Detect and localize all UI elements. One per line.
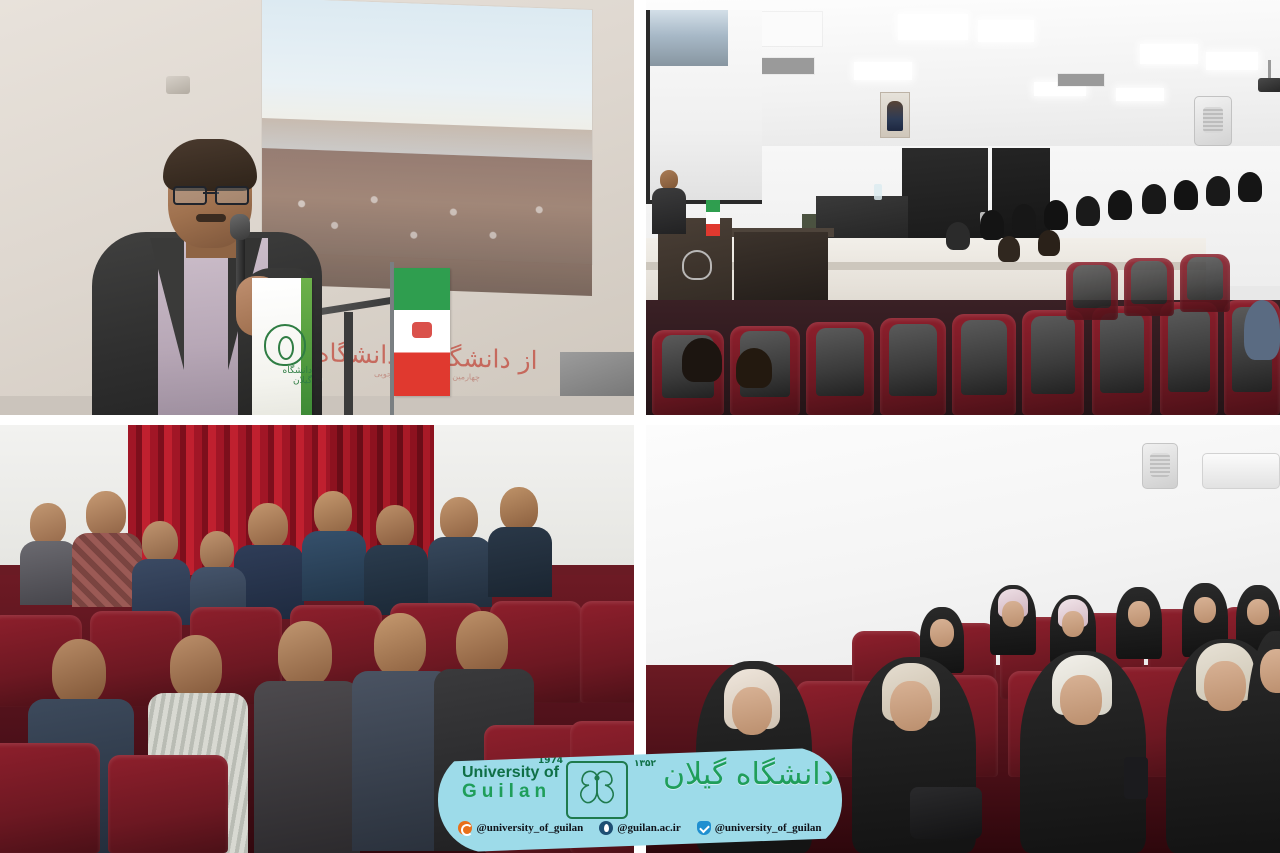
wall-portrait bbox=[880, 92, 910, 138]
university-name-fa: دانشگاه گیلان bbox=[634, 757, 834, 792]
photo-collage: از دانشگاه تا دانشگاه چهارمین همایش ملی … bbox=[0, 0, 1280, 853]
projection-screen: از دانشگاه تا دانشگاه چهارمین همایش ملی … bbox=[262, 0, 592, 264]
theater-seat bbox=[0, 743, 100, 853]
audience-member bbox=[736, 348, 772, 388]
social-link-eitaa[interactable]: @university_of_guilan bbox=[458, 821, 583, 835]
speaker-lapel-left bbox=[150, 238, 184, 370]
handbag bbox=[910, 787, 982, 839]
soroush-handle: @university_of_guilan bbox=[715, 822, 822, 834]
theater-seat bbox=[108, 755, 228, 853]
audience-member bbox=[998, 236, 1020, 262]
air-conditioner bbox=[1202, 453, 1280, 489]
ceiling-projector bbox=[1258, 78, 1280, 92]
theater-seat bbox=[806, 322, 874, 415]
projector-rod bbox=[1268, 60, 1271, 80]
university-flag: دانشگاه گیلان bbox=[252, 278, 312, 415]
audience-member bbox=[1012, 204, 1036, 234]
audience-member bbox=[1174, 180, 1198, 210]
water-bottle bbox=[874, 184, 882, 200]
theater-seat bbox=[1160, 302, 1218, 415]
wall-sensor bbox=[166, 76, 190, 94]
audience-member bbox=[1044, 200, 1068, 230]
audience-member bbox=[1244, 300, 1280, 360]
audience-member bbox=[1038, 230, 1060, 256]
photo-hall-wide bbox=[646, 0, 1280, 415]
microphone-icon bbox=[230, 214, 250, 240]
audience-member bbox=[1108, 190, 1132, 220]
bale-icon bbox=[599, 821, 613, 835]
wall-speaker-icon bbox=[1142, 443, 1178, 489]
theater-seat bbox=[1022, 310, 1084, 415]
audience-member bbox=[1142, 184, 1166, 214]
theater-seat bbox=[580, 601, 634, 703]
wall-speaker-icon bbox=[1194, 96, 1232, 146]
theater-seat bbox=[1124, 258, 1174, 316]
university-flag-text: دانشگاه گیلان bbox=[266, 366, 312, 386]
eitaa-icon bbox=[458, 821, 472, 835]
social-link-bale[interactable]: @guilan.ac.ir bbox=[599, 821, 680, 835]
soroush-icon bbox=[697, 821, 711, 835]
social-link-soroush[interactable]: @university_of_guilan bbox=[697, 821, 822, 835]
theater-seat bbox=[1066, 262, 1118, 320]
audience-member bbox=[946, 222, 970, 250]
photo-speaker: از دانشگاه تا دانشگاه چهارمین همایش ملی … bbox=[0, 0, 634, 415]
theater-seat bbox=[880, 318, 946, 415]
bale-handle: @guilan.ac.ir bbox=[617, 822, 680, 834]
audience-member bbox=[682, 338, 722, 382]
stage-desk bbox=[734, 232, 828, 300]
iran-flag bbox=[706, 200, 720, 236]
audience-member bbox=[1238, 172, 1262, 202]
social-links-row: @university_of_guilan @guilan.ac.ir @uni… bbox=[438, 815, 842, 841]
slide-sky bbox=[262, 0, 592, 130]
eitaa-handle: @university_of_guilan bbox=[476, 822, 583, 834]
microphone-stand-pole bbox=[344, 312, 353, 415]
projected-image bbox=[650, 10, 728, 66]
speaker-hair bbox=[163, 139, 257, 191]
audience-member bbox=[980, 210, 1004, 240]
speaker-mustache bbox=[196, 214, 226, 222]
audience-member bbox=[1076, 196, 1100, 226]
university-emblem-icon bbox=[566, 761, 628, 819]
eyeglasses-icon bbox=[173, 186, 249, 201]
banner-identity-row: 1974 University of Guilan ۱۳۵۲ bbox=[438, 753, 842, 815]
university-banner: 1974 University of Guilan ۱۳۵۲ bbox=[438, 747, 842, 853]
mobile-phone bbox=[1124, 757, 1148, 799]
theater-seat bbox=[1180, 254, 1230, 312]
iran-flag bbox=[394, 268, 450, 396]
speaker-figure bbox=[652, 170, 686, 234]
audience-member bbox=[1206, 176, 1230, 206]
theater-seat bbox=[952, 314, 1016, 415]
theater-seat bbox=[1092, 306, 1152, 415]
